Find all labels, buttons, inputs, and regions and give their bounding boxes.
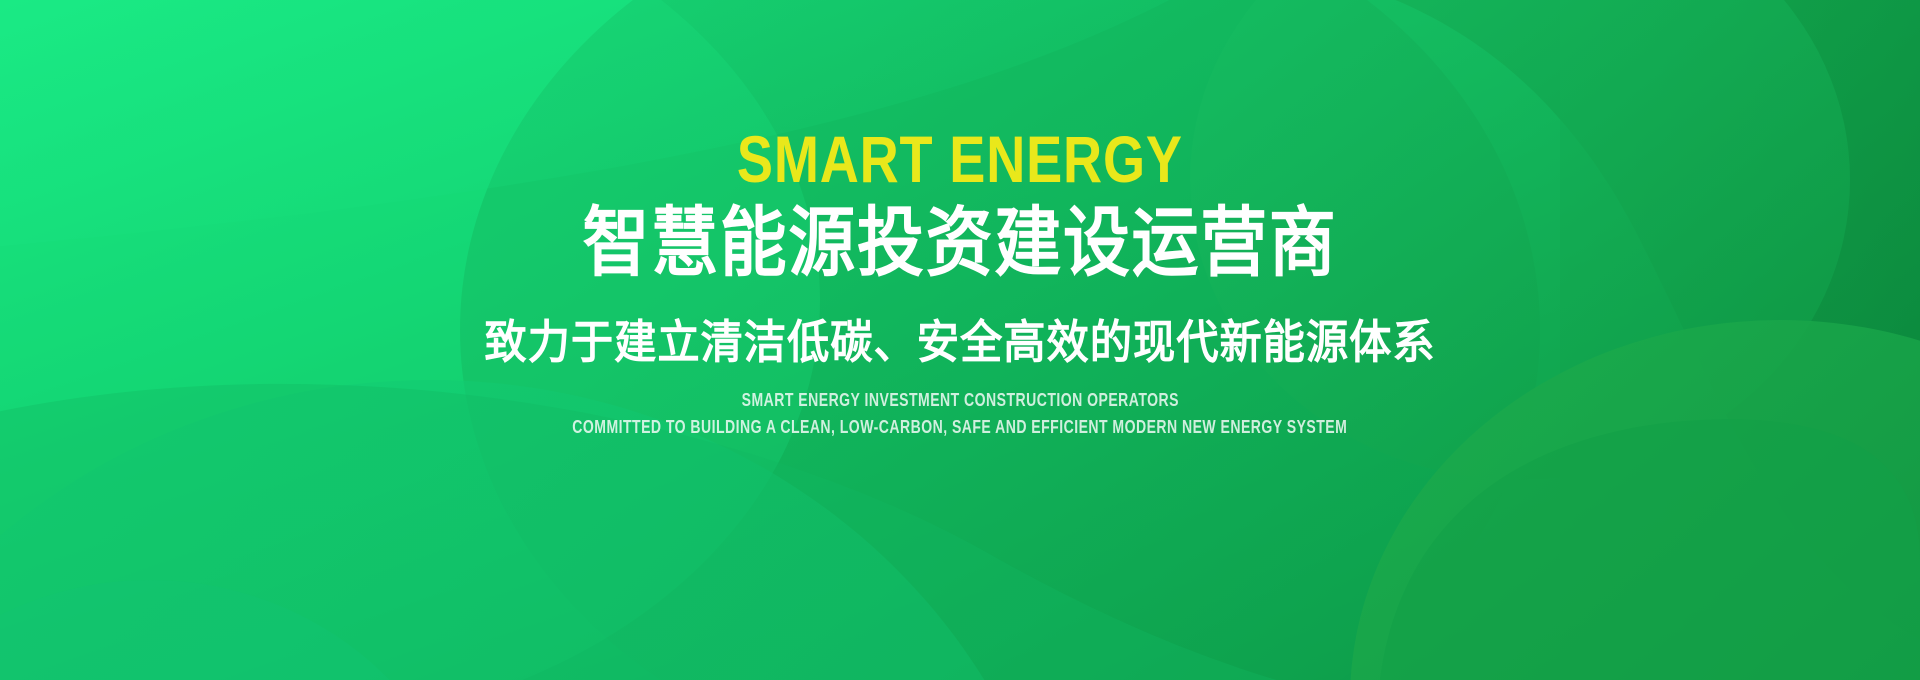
banner-content: SMART ENERGY 智慧能源投资建设运营商 致力于建立清洁低碳、安全高效的… xyxy=(0,0,1920,680)
banner-title-en: SMART ENERGY xyxy=(737,126,1183,192)
banner-tagline-line2: COMMITTED TO BUILDING A CLEAN, LOW-CARBO… xyxy=(572,417,1347,438)
banner-tagline-line1: SMART ENERGY INVESTMENT CONSTRUCTION OPE… xyxy=(741,390,1178,411)
smart-energy-banner: SMART ENERGY 智慧能源投资建设运营商 致力于建立清洁低碳、安全高效的… xyxy=(0,0,1920,680)
banner-tagline-block: SMART ENERGY INVESTMENT CONSTRUCTION OPE… xyxy=(463,390,1457,437)
banner-subtitle-cn: 致力于建立清洁低碳、安全高效的现代新能源体系 xyxy=(484,318,1435,366)
banner-title-cn: 智慧能源投资建设运营商 xyxy=(582,204,1337,282)
